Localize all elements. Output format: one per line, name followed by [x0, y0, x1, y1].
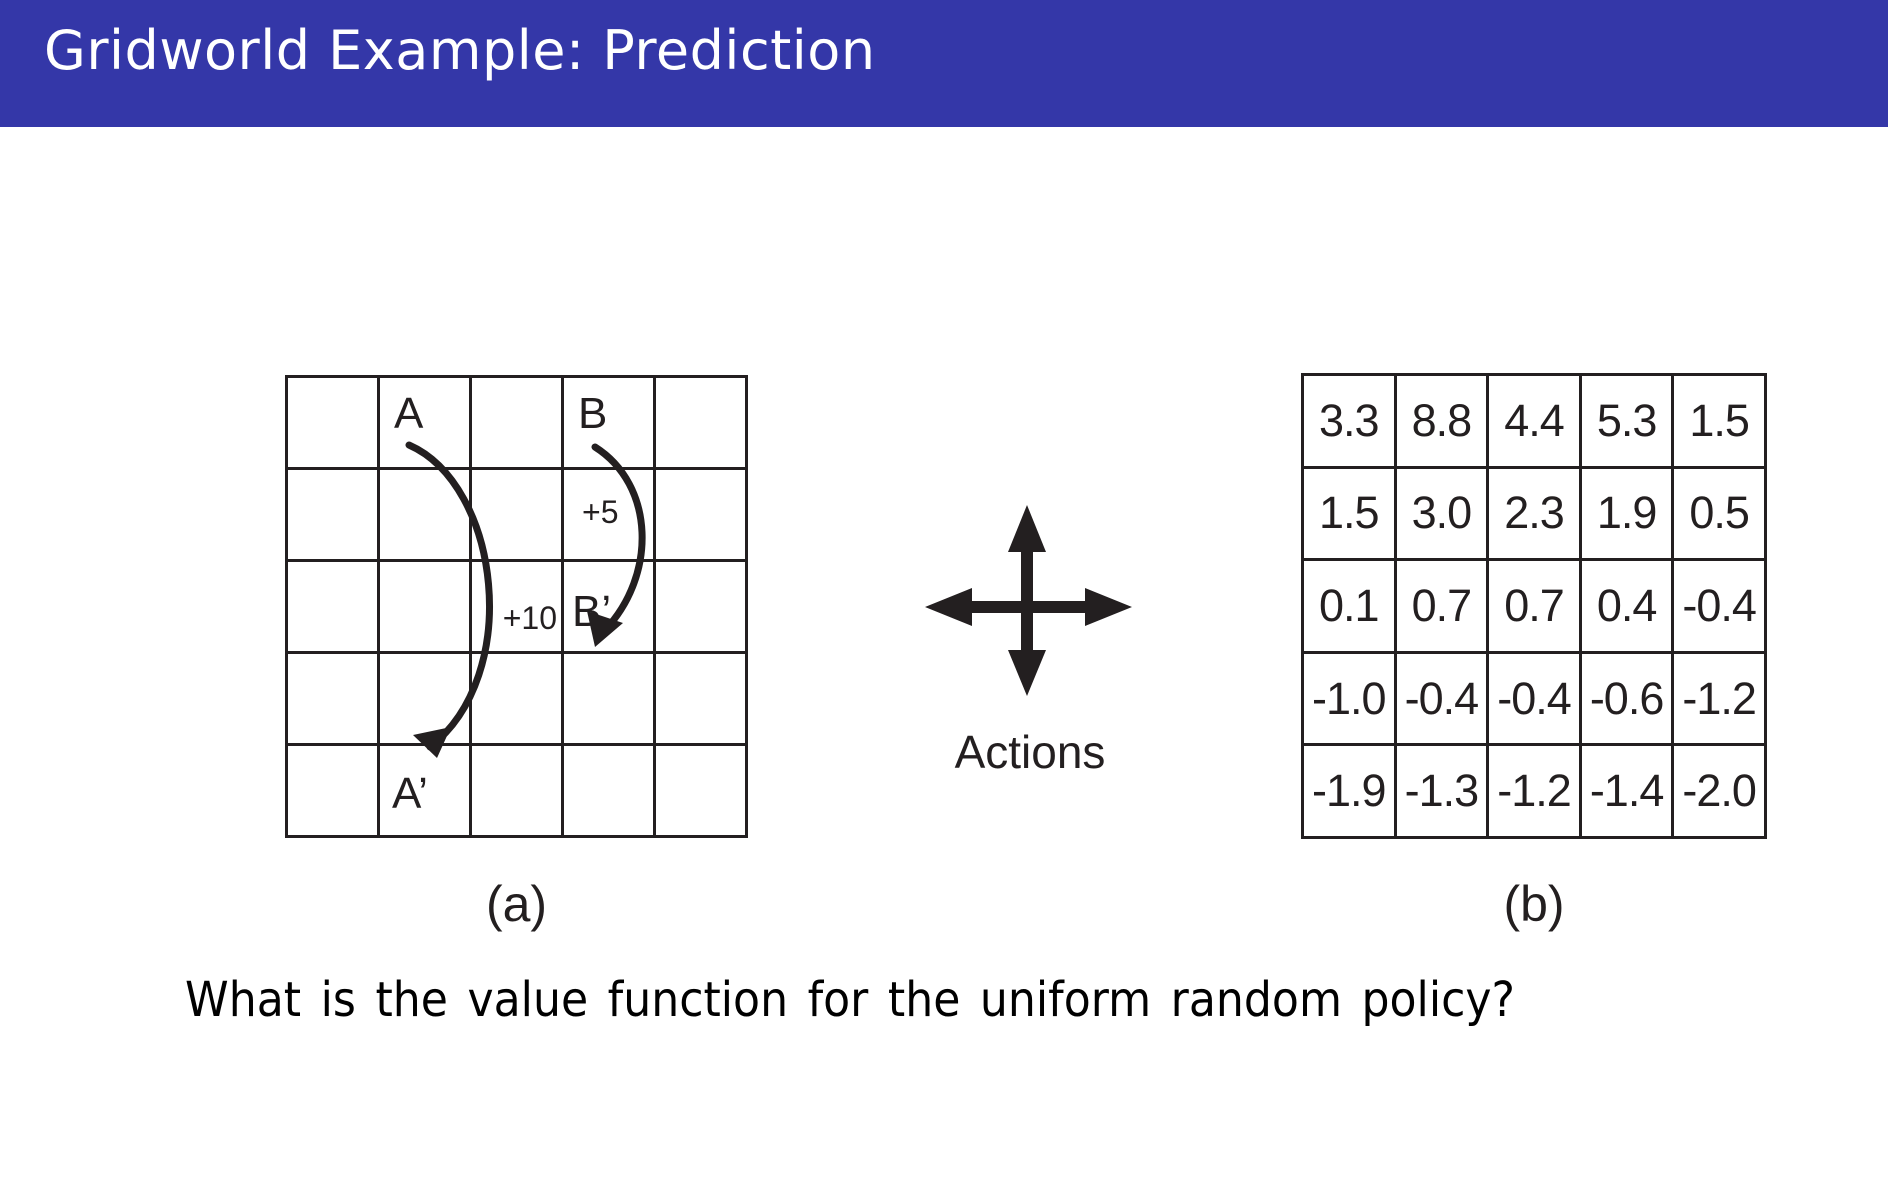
value-cell-r5c3: -1.2	[1489, 746, 1582, 839]
arrow-down-icon	[1008, 650, 1046, 696]
grid-cell-r3c5	[656, 562, 748, 654]
grid-cell-r3c1	[288, 562, 380, 654]
state-label-a: A	[394, 392, 423, 436]
grid-cell-r2c5	[656, 470, 748, 562]
grid-cell-r5c3	[472, 746, 564, 838]
reward-label-plus5: +5	[582, 496, 618, 528]
grid-cell-r1c2: A	[380, 378, 472, 470]
reward-label-plus10: +10	[503, 602, 557, 634]
value-cell-r2c4: 1.9	[1582, 469, 1675, 562]
slide-body: A B +5 +10 B’	[0, 127, 1888, 1186]
gridworld-diagram: A B +5 +10 B’	[285, 375, 748, 838]
state-label-b: B	[578, 392, 607, 436]
gridworld-grid: A B +5 +10 B’	[285, 375, 748, 838]
value-cell-r3c3: 0.7	[1489, 561, 1582, 654]
value-cell-r1c3: 4.4	[1489, 376, 1582, 469]
grid-cell-r4c3	[472, 654, 564, 746]
grid-cell-r1c4: B	[564, 378, 656, 470]
actions-label: Actions	[860, 725, 1200, 779]
value-cell-r1c2: 8.8	[1397, 376, 1490, 469]
grid-cell-r1c1	[288, 378, 380, 470]
value-cell-r5c5: -2.0	[1674, 746, 1767, 839]
four-way-arrow-icon	[920, 500, 1140, 700]
value-cell-r1c5: 1.5	[1674, 376, 1767, 469]
grid-cell-r3c3: +10	[472, 562, 564, 654]
caption-panel-b: (b)	[1301, 875, 1767, 933]
actions-diagram	[920, 500, 1140, 700]
state-label-b-prime: B’	[572, 590, 611, 634]
grid-cell-r4c1	[288, 654, 380, 746]
grid-cell-r4c4	[564, 654, 656, 746]
value-cell-r4c5: -1.2	[1674, 654, 1767, 747]
grid-cell-r3c2	[380, 562, 472, 654]
grid-cell-r4c5	[656, 654, 748, 746]
arrow-left-icon	[925, 588, 972, 626]
value-cell-r1c4: 5.3	[1582, 376, 1675, 469]
value-cell-r3c4: 0.4	[1582, 561, 1675, 654]
grid-cell-r4c2	[380, 654, 472, 746]
value-cell-r4c4: -0.6	[1582, 654, 1675, 747]
value-cell-r5c4: -1.4	[1582, 746, 1675, 839]
value-cell-r2c2: 3.0	[1397, 469, 1490, 562]
grid-cell-r2c2	[380, 470, 472, 562]
grid-cell-r3c4: B’	[564, 562, 656, 654]
arrow-up-icon	[1008, 505, 1046, 552]
value-function-grid: 3.3 8.8 4.4 5.3 1.5 1.5 3.0 2.3 1.9 0.5 …	[1301, 373, 1767, 839]
grid-cell-r2c1	[288, 470, 380, 562]
grid-cell-r5c5	[656, 746, 748, 838]
grid-cell-r5c1	[288, 746, 380, 838]
value-cell-r5c1: -1.9	[1304, 746, 1397, 839]
value-cell-r4c2: -0.4	[1397, 654, 1490, 747]
value-cell-r1c1: 3.3	[1304, 376, 1397, 469]
question-text: What is the value function for the unifo…	[68, 972, 1632, 1028]
value-cell-r2c1: 1.5	[1304, 469, 1397, 562]
page-title: Gridworld Example: Prediction	[44, 19, 876, 82]
value-cell-r2c5: 0.5	[1674, 469, 1767, 562]
arrow-right-icon	[1085, 588, 1132, 626]
value-cell-r4c3: -0.4	[1489, 654, 1582, 747]
caption-panel-a: (a)	[285, 875, 748, 933]
value-cell-r3c2: 0.7	[1397, 561, 1490, 654]
value-cell-r3c1: 0.1	[1304, 561, 1397, 654]
state-label-a-prime: A’	[392, 772, 428, 816]
value-cell-r2c3: 2.3	[1489, 469, 1582, 562]
value-cell-r3c5: -0.4	[1674, 561, 1767, 654]
grid-cell-r2c4: +5	[564, 470, 656, 562]
grid-cell-r2c3	[472, 470, 564, 562]
value-cell-r5c2: -1.3	[1397, 746, 1490, 839]
grid-cell-r1c3	[472, 378, 564, 470]
value-cell-r4c1: -1.0	[1304, 654, 1397, 747]
grid-cell-r5c2: A’	[380, 746, 472, 838]
grid-cell-r5c4	[564, 746, 656, 838]
title-band: Gridworld Example: Prediction	[0, 0, 1888, 127]
grid-cell-r1c5	[656, 378, 748, 470]
